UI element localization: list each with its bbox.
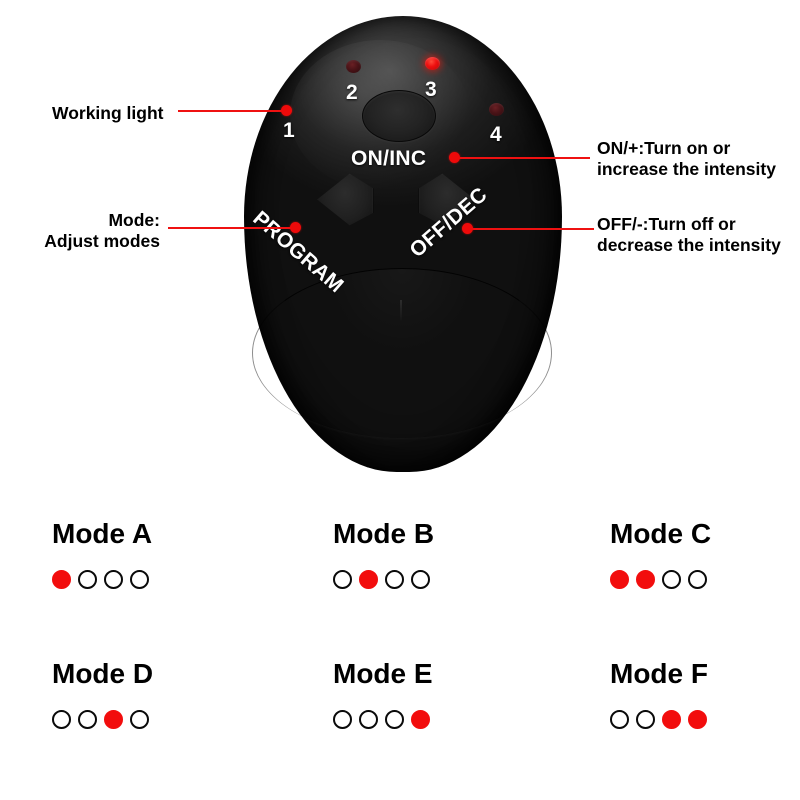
device-illustration: 2 3 4 1 ON/INC PROGRAM OFF/DEC Working l… <box>0 0 800 490</box>
mode-led-2-off <box>636 710 655 729</box>
callout-off-decrease-line-1: OFF/-:Turn off or <box>597 214 781 235</box>
mode-led-3-on <box>104 710 123 729</box>
callout-dot-mode <box>290 222 301 233</box>
mode-led-3-off <box>385 710 404 729</box>
mode-f-label: Mode F <box>610 660 708 688</box>
callout-on-increase-line-1: ON/+:Turn on or <box>597 138 776 159</box>
device-led-3-number: 3 <box>425 79 437 100</box>
callout-dot-off-decrease <box>462 223 473 234</box>
callout-dot-on-increase <box>449 152 460 163</box>
device-led-3 <box>425 57 440 70</box>
device-led-1-number: 1 <box>283 120 295 141</box>
callout-off-decrease-line-2: decrease the intensity <box>597 235 781 256</box>
device-led-4 <box>489 103 504 116</box>
callout-working-light-text: Working light <box>52 103 163 124</box>
mode-item-a: Mode A <box>52 520 152 589</box>
mode-led-4-on <box>688 710 707 729</box>
mode-led-2-off <box>359 710 378 729</box>
mode-d-leds <box>52 710 153 729</box>
callout-mode-line-2: Adjust modes <box>0 231 160 252</box>
callout-dot-working-light <box>281 105 292 116</box>
mode-item-c: Mode C <box>610 520 711 589</box>
mode-led-4-off <box>411 570 430 589</box>
mode-f-leds <box>610 710 708 729</box>
callout-mode-text: Mode: Adjust modes <box>0 210 160 253</box>
mode-led-4-off <box>130 710 149 729</box>
on-inc-label: ON/INC <box>351 148 426 169</box>
leader-line-mode <box>168 227 295 229</box>
mode-item-f: Mode F <box>610 660 708 729</box>
power-button[interactable] <box>362 90 436 142</box>
callout-on-increase-text: ON/+:Turn on or increase the intensity <box>597 138 776 181</box>
mode-legend: Mode A Mode B Mode C Mode D Mode E Mode … <box>0 498 800 800</box>
mode-b-label: Mode B <box>333 520 434 548</box>
leader-line-off-decrease <box>468 228 594 230</box>
mode-led-1-off <box>52 710 71 729</box>
mode-led-4-off <box>688 570 707 589</box>
mode-led-4-off <box>130 570 149 589</box>
mode-a-leds <box>52 570 152 589</box>
mode-e-label: Mode E <box>333 660 433 688</box>
body-seam-notch <box>400 300 402 322</box>
mode-e-leds <box>333 710 433 729</box>
mode-led-1-off <box>333 570 352 589</box>
mode-led-2-on <box>359 570 378 589</box>
mode-led-1-on <box>610 570 629 589</box>
callout-mode-line-1: Mode: <box>0 210 160 231</box>
mode-led-1-off <box>610 710 629 729</box>
mode-led-1-on <box>52 570 71 589</box>
mode-led-2-on <box>636 570 655 589</box>
mode-a-label: Mode A <box>52 520 152 548</box>
mode-item-d: Mode D <box>52 660 153 729</box>
mode-c-leds <box>610 570 711 589</box>
mode-led-2-off <box>78 570 97 589</box>
mode-d-label: Mode D <box>52 660 153 688</box>
leader-line-on-increase <box>455 157 590 159</box>
mode-led-3-off <box>662 570 681 589</box>
callout-working-light-line-1: Working light <box>52 103 163 124</box>
mode-item-b: Mode B <box>333 520 434 589</box>
mode-b-leds <box>333 570 434 589</box>
mode-led-3-on <box>662 710 681 729</box>
mode-item-e: Mode E <box>333 660 433 729</box>
mode-led-4-on <box>411 710 430 729</box>
leader-line-working-light <box>178 110 286 112</box>
mode-led-1-off <box>333 710 352 729</box>
mode-led-3-off <box>104 570 123 589</box>
mode-led-3-off <box>385 570 404 589</box>
device-led-2 <box>346 60 361 73</box>
callout-on-increase-line-2: increase the intensity <box>597 159 776 180</box>
mode-led-2-off <box>78 710 97 729</box>
device-led-4-number: 4 <box>490 124 502 145</box>
callout-off-decrease-text: OFF/-:Turn off or decrease the intensity <box>597 214 781 257</box>
product-diagram-page: 2 3 4 1 ON/INC PROGRAM OFF/DEC Working l… <box>0 0 800 800</box>
mode-c-label: Mode C <box>610 520 711 548</box>
device-led-2-number: 2 <box>346 82 358 103</box>
